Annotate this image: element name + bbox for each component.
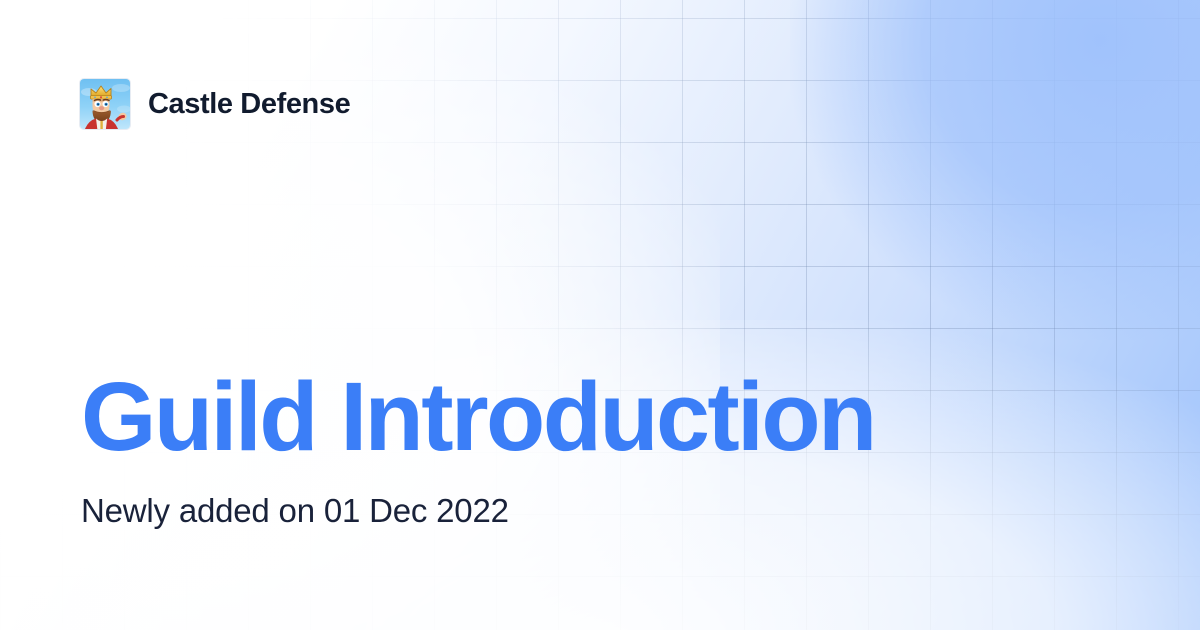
page-subtitle: Newly added on 01 Dec 2022 [81,465,875,527]
share-card: Castle Defense Guild Introduction Newly … [0,0,1200,630]
card-content: Castle Defense Guild Introduction Newly … [0,0,1200,630]
page-title: Guild Introduction [81,368,875,465]
brand-header: Castle Defense [80,79,350,129]
castle-defense-app-icon [80,79,130,129]
hero-text-block: Guild Introduction Newly added on 01 Dec… [81,368,875,527]
app-name-label: Castle Defense [148,90,350,119]
